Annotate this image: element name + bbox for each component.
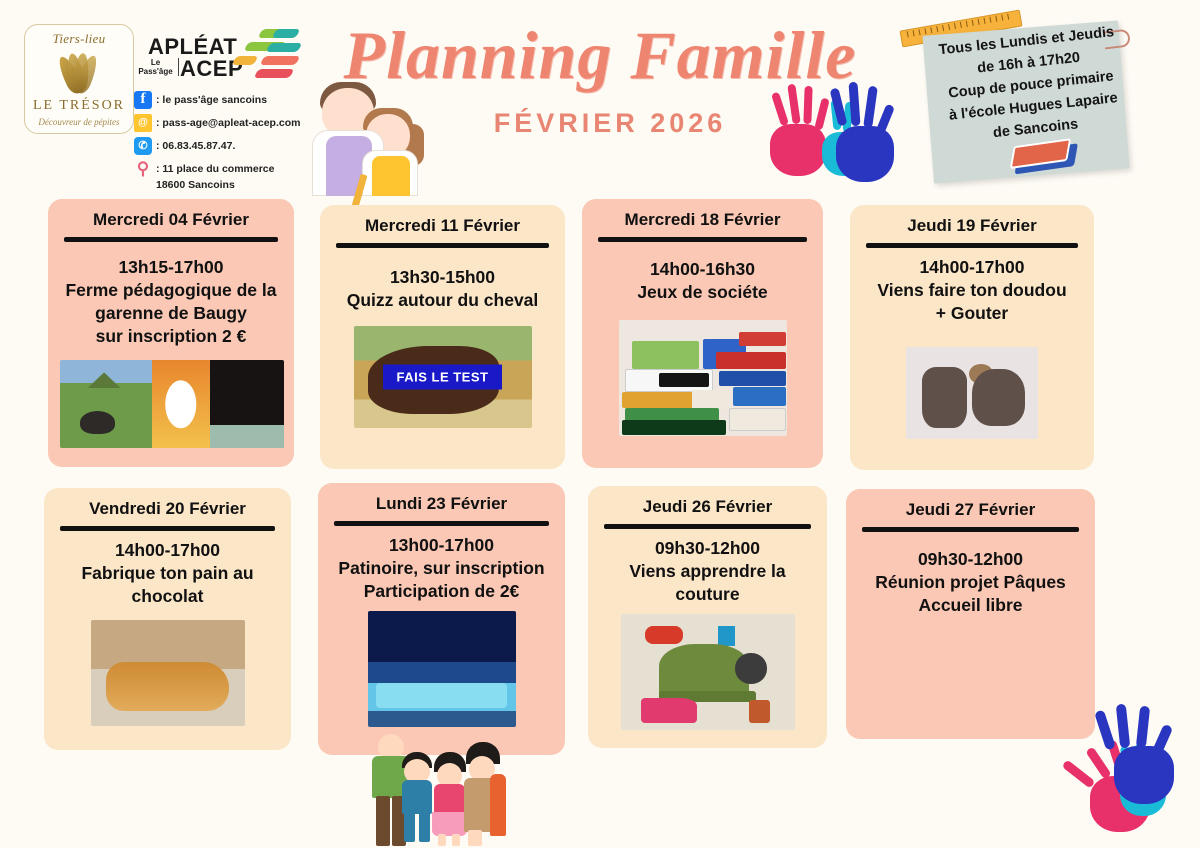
event-card-vendredi-20-fevrier[interactable]: Vendredi 20 Février 14h00-17h00 Fabrique… (44, 488, 291, 750)
glove-plush-photo (906, 347, 1038, 439)
address-line1: : 11 place du commerce (156, 163, 274, 175)
contact-address: ⚲ : 11 place du commerce (134, 159, 314, 178)
card-divider (60, 526, 275, 531)
org-bars-icon (238, 26, 298, 82)
facebook-text: : le pass'âge sancoins (156, 94, 267, 106)
logo-top-text: Tiers-lieu (53, 31, 106, 47)
logo-tagline: Découvreur de pépites (38, 117, 119, 127)
fais-le-test-badge[interactable]: FAIS LE TEST (383, 365, 503, 390)
contact-email[interactable]: @ : pass-age@apleat-acep.com (134, 113, 314, 132)
card-body: 14h00-17h00 Fabrique ton pain au chocola… (56, 539, 279, 608)
contact-phone[interactable]: ✆ : 06.83.45.87.47. (134, 136, 314, 155)
phone-icon: ✆ (134, 137, 152, 155)
card-title: Jeudi 19 Février (862, 215, 1082, 237)
event-card-lundi-23-fevrier[interactable]: Lundi 23 Février 13h00-17h00 Patinoire, … (318, 483, 565, 755)
event-card-mercredi-04-fevrier[interactable]: Mercredi 04 Février 13h15-17h00 Ferme pé… (48, 199, 294, 467)
contact-block: f : le pass'âge sancoins @ : pass-age@ap… (134, 90, 314, 191)
email-text: : pass-age@apleat-acep.com (156, 117, 300, 129)
family-group-icon (372, 722, 532, 848)
card-body: 14h00-16h30 Jeux de sociéte (594, 258, 811, 304)
phone-text: : 06.83.45.87.47. (156, 140, 235, 152)
sewing-machine-photo (621, 614, 795, 730)
tresor-logo: Tiers-lieu LE TRÉSOR Découvreur de pépit… (24, 24, 134, 134)
card-title: Jeudi 27 Février (858, 499, 1083, 521)
passage-small: Le (151, 58, 160, 67)
card-body: 13h30-15h00 Quizz autour du cheval (332, 266, 553, 312)
card-divider (334, 521, 549, 526)
card-title: Lundi 23 Février (330, 493, 553, 515)
horse-photo: FAIS LE TEST (354, 326, 532, 428)
card-divider (862, 527, 1079, 532)
apleat-acep-logo: APLÉAT ACEP Le Pass'âge (140, 26, 270, 84)
card-divider (604, 524, 811, 529)
event-card-mercredi-11-fevrier[interactable]: Mercredi 11 Février 13h30-15h00 Quizz au… (320, 205, 565, 469)
card-title: Vendredi 20 Février (56, 498, 279, 520)
card-title: Mercredi 18 Février (594, 209, 811, 231)
card-divider (64, 237, 278, 242)
card-title: Mercredi 11 Février (332, 215, 553, 237)
event-card-jeudi-26-fevrier[interactable]: Jeudi 26 Février 09h30-12h00 Viens appre… (588, 486, 827, 748)
card-body: 09h30-12h00 Réunion projet Pâques Accuei… (858, 548, 1083, 617)
facebook-icon: f (134, 91, 152, 109)
handprints-icon (762, 82, 902, 194)
card-body: 09h30-12h00 Viens apprendre la couture (600, 537, 815, 606)
note-text: Tous les Lundis et Jeudis de 16h à 17h20… (921, 19, 1141, 150)
handprints-icon (1056, 714, 1196, 844)
passage-label: Le Pass'âge (135, 58, 179, 76)
card-body: 13h00-17h00 Patinoire, sur inscription P… (330, 534, 553, 603)
card-divider (866, 243, 1078, 248)
event-card-jeudi-27-fevrier[interactable]: Jeudi 27 Février 09h30-12h00 Réunion pro… (846, 489, 1095, 739)
board-games-photo (619, 320, 787, 436)
card-title: Mercredi 04 Février (60, 209, 282, 231)
donkey-farm-photo (60, 360, 284, 448)
contact-facebook[interactable]: f : le pass'âge sancoins (134, 90, 314, 109)
map-pin-icon: ⚲ (134, 160, 152, 178)
pain-au-chocolat-photo (91, 620, 245, 726)
event-card-jeudi-19-fevrier[interactable]: Jeudi 19 Février 14h00-17h00 Viens faire… (850, 205, 1094, 470)
logo-name: LE TRÉSOR (33, 98, 125, 114)
gold-leaf-icon (56, 49, 102, 95)
ice-rink-photo (368, 611, 516, 727)
address-line2: 18600 Sancoins (156, 179, 314, 191)
card-body: 13h15-17h00 Ferme pédagogique de la gare… (60, 256, 282, 348)
event-card-mercredi-18-fevrier[interactable]: Mercredi 18 Février 14h00-16h30 Jeux de … (582, 199, 823, 468)
card-divider (336, 243, 549, 248)
poster-header: Tiers-lieu LE TRÉSOR Découvreur de pépit… (0, 0, 1200, 196)
card-divider (598, 237, 807, 242)
card-title: Jeudi 26 Février (600, 496, 815, 518)
card-body: 14h00-17h00 Viens faire ton doudou + Gou… (862, 256, 1082, 325)
email-icon: @ (134, 114, 152, 132)
passage-main: Pass'âge (138, 67, 172, 76)
